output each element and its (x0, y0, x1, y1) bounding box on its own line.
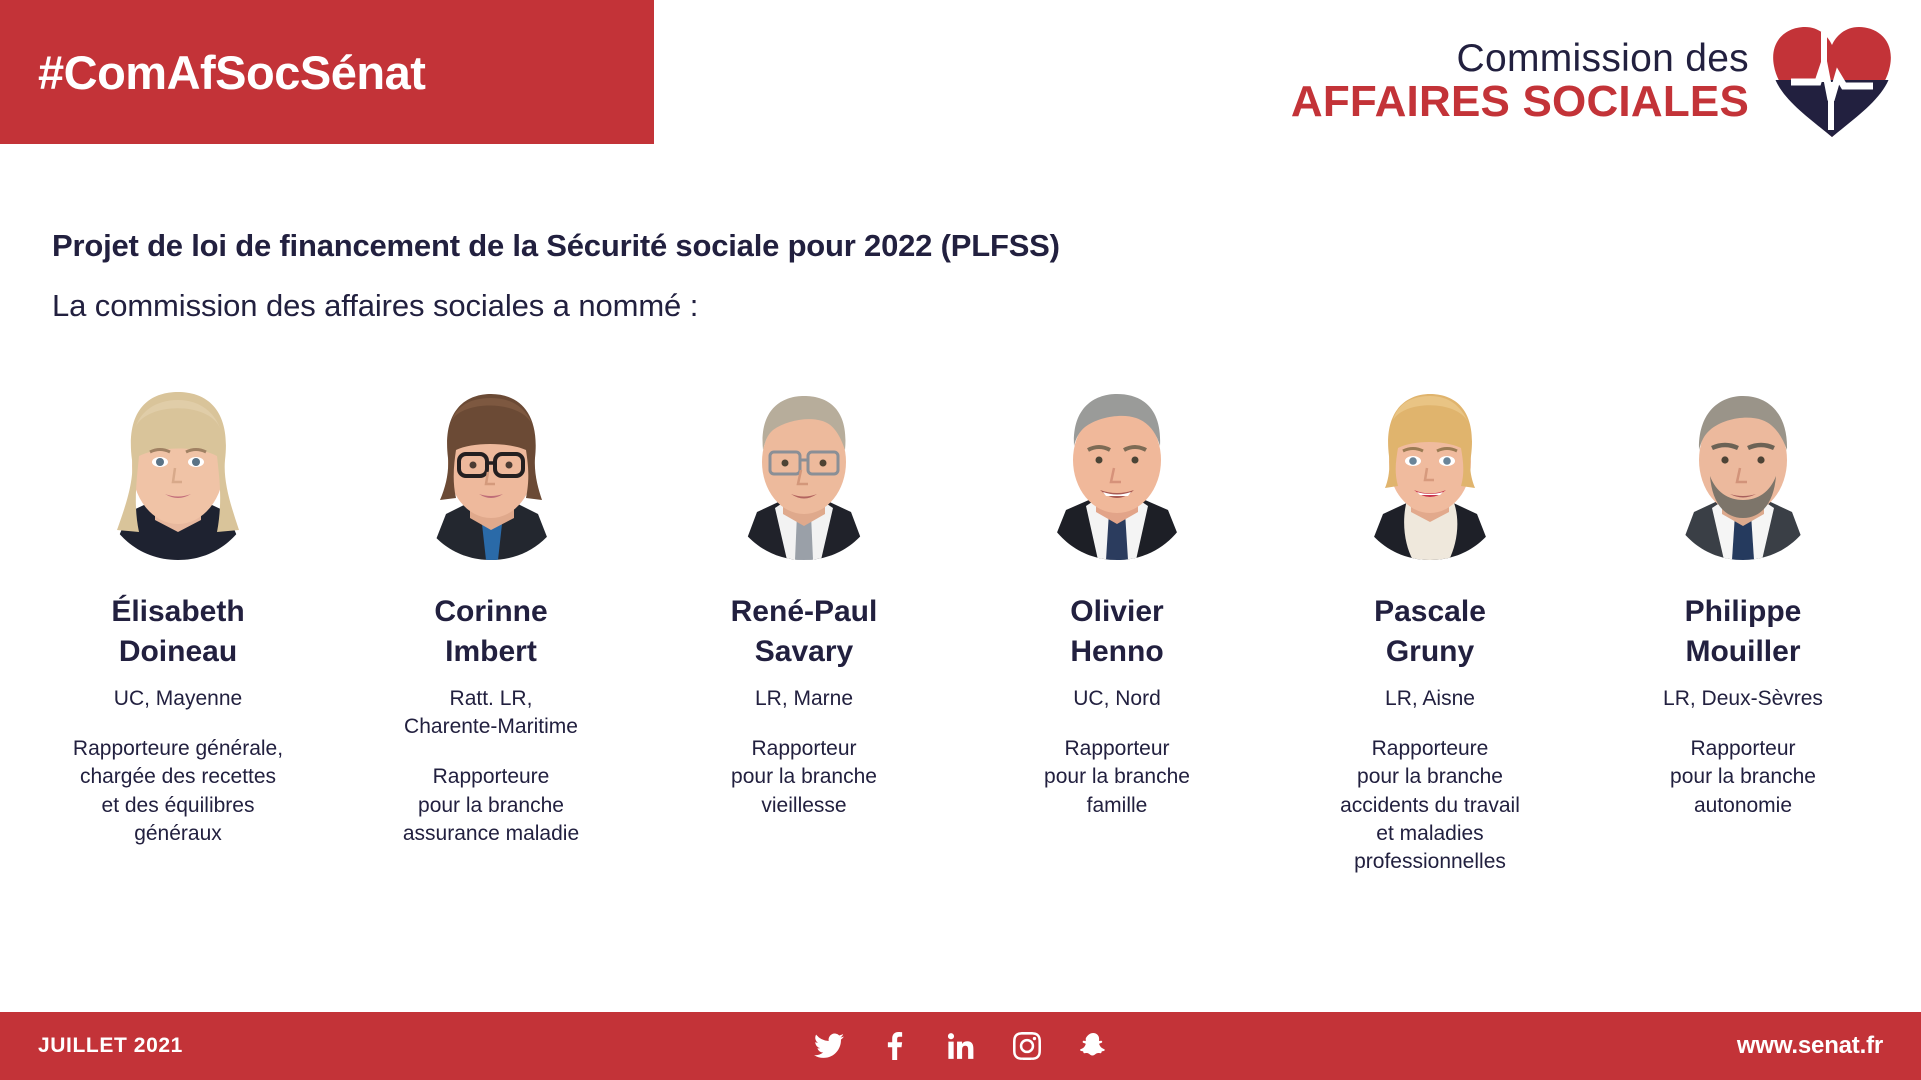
portrait-olivier-henno (1028, 380, 1206, 560)
heart-pulse-icon (1771, 26, 1893, 138)
person-card: Corinne Imbert Ratt. LR, Charente-Mariti… (341, 378, 641, 848)
person-affiliation: UC, Mayenne (114, 685, 242, 713)
person-card: René-Paul Savary LR, Marne Rapporteur po… (654, 378, 954, 820)
page-subtitle: La commission des affaires sociales a no… (52, 288, 698, 324)
hashtag-banner: #ComAfSocSénat (0, 0, 654, 144)
footer-date: JUILLET 2021 (38, 1034, 183, 1058)
hashtag-label: #ComAfSocSénat (0, 45, 425, 100)
rapporteurs-list: Élisabeth Doineau UC, Mayenne Rapporteur… (28, 378, 1893, 876)
portrait-wrap (1023, 378, 1211, 560)
person-role: Rapporteure pour la branche assurance ma… (403, 763, 579, 847)
person-name: Élisabeth Doineau (111, 592, 244, 671)
person-card: Olivier Henno UC, Nord Rapporteur pour l… (967, 378, 1267, 820)
person-affiliation: LR, Marne (755, 685, 853, 713)
person-name: Olivier Henno (1070, 592, 1163, 671)
portrait-corinne-imbert (402, 380, 580, 560)
person-role: Rapporteur pour la branche autonomie (1670, 735, 1816, 819)
person-role: Rapporteur pour la branche famille (1044, 735, 1190, 819)
person-role: Rapporteure pour la branche accidents du… (1340, 735, 1520, 876)
person-card: Pascale Gruny LR, Aisne Rapporteure pour… (1280, 378, 1580, 876)
person-role: Rapporteure générale, chargée des recett… (73, 735, 283, 848)
person-affiliation: LR, Aisne (1385, 685, 1475, 713)
person-name: Corinne Imbert (434, 592, 547, 671)
page-title: Projet de loi de financement de la Sécur… (52, 228, 1060, 264)
infographic-page: #ComAfSocSénat Commission des AFFAIRES S… (0, 0, 1921, 1080)
person-affiliation: Ratt. LR, Charente-Maritime (404, 685, 578, 741)
portrait-wrap (710, 378, 898, 560)
portrait-elisabeth-doineau (89, 380, 267, 560)
portrait-wrap (397, 378, 585, 560)
logo-line-1: Commission des (1291, 39, 1749, 79)
footer-website-url: www.senat.fr (1737, 1032, 1883, 1060)
portrait-pascale-gruny (1341, 380, 1519, 560)
linkedin-icon[interactable] (946, 1031, 976, 1061)
person-card: Philippe Mouiller LR, Deux-Sèvres Rappor… (1593, 378, 1893, 820)
commission-logo: Commission des AFFAIRES SOCIALES (1291, 26, 1893, 138)
person-card: Élisabeth Doineau UC, Mayenne Rapporteur… (28, 378, 328, 848)
person-name: Pascale Gruny (1374, 592, 1486, 671)
logo-wordmark: Commission des AFFAIRES SOCIALES (1291, 39, 1749, 126)
person-affiliation: LR, Deux-Sèvres (1663, 685, 1823, 713)
person-name: René-Paul Savary (731, 592, 878, 671)
logo-line-2: AFFAIRES SOCIALES (1291, 80, 1749, 125)
facebook-icon[interactable] (880, 1031, 910, 1061)
instagram-icon[interactable] (1012, 1031, 1042, 1061)
snapchat-icon[interactable] (1078, 1031, 1108, 1061)
social-links (814, 1031, 1108, 1061)
portrait-wrap (1336, 378, 1524, 560)
twitter-icon[interactable] (814, 1031, 844, 1061)
portrait-rene-paul-savary (715, 380, 893, 560)
portrait-wrap (1649, 378, 1837, 560)
person-name: Philippe Mouiller (1685, 592, 1802, 671)
portrait-wrap (84, 378, 272, 560)
portrait-philippe-mouiller (1654, 380, 1832, 560)
person-role: Rapporteur pour la branche vieillesse (731, 735, 877, 819)
person-affiliation: UC, Nord (1073, 685, 1161, 713)
footer-bar: JUILLET 2021 www.senat.fr (0, 1012, 1921, 1080)
